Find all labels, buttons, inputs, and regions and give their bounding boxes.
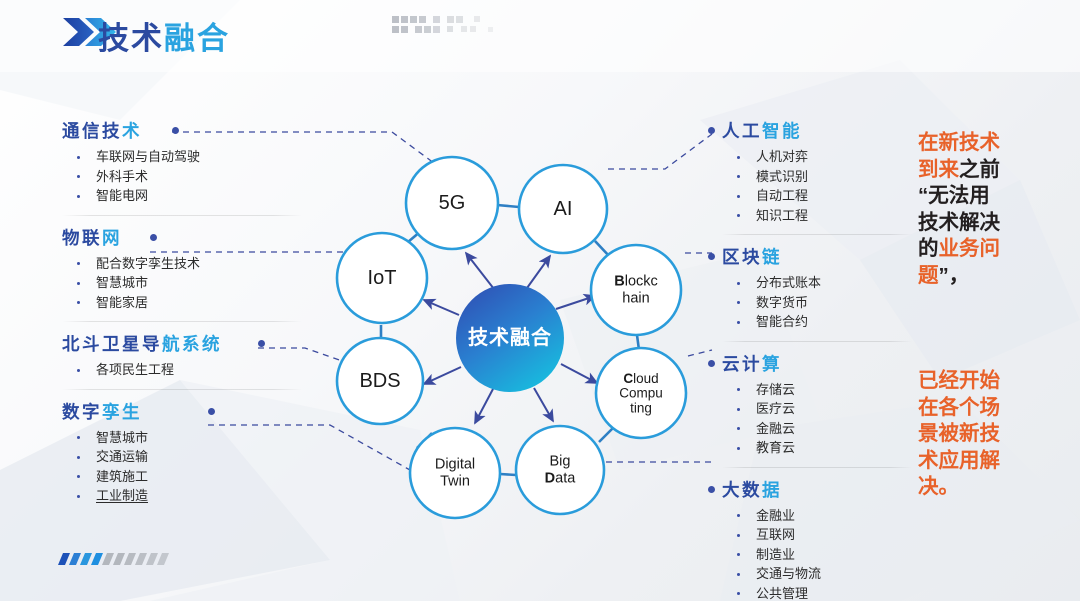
hub-label: 技术融合 bbox=[468, 325, 552, 349]
topic-item-list: 分布式账本 数字货币 智能合约 bbox=[722, 273, 912, 332]
callout-line: 到来之前 bbox=[918, 157, 1028, 184]
node-iot[interactable]: IoT bbox=[337, 233, 427, 323]
callout-bottom: 已经开始在各个场景被新技术应用解决。 bbox=[918, 368, 1028, 501]
heading-light: 智能 bbox=[762, 121, 802, 141]
heading-dark: 物联 bbox=[62, 228, 102, 248]
topic-group-iot: 物联网 配合数字孪生技术 智慧城市 智能家居 bbox=[62, 227, 302, 313]
list-item: 建筑施工 bbox=[62, 467, 302, 487]
node-label: Data bbox=[545, 471, 577, 487]
topic-item-list: 各项民生工程 bbox=[62, 360, 302, 380]
node-cloud[interactable]: CloudComputing bbox=[596, 348, 686, 438]
callout-line: 技术解决 bbox=[918, 210, 1028, 237]
topic-group-ai: 人工智能 人机对弈 模式识别 自动工程 知识工程 bbox=[722, 120, 912, 225]
callout-run: 在新技术 bbox=[918, 131, 1000, 154]
callout-run: 业务问 bbox=[939, 237, 1001, 260]
topic-item-list: 智慧城市 交通运输 建筑施工 工业制造 bbox=[62, 428, 302, 506]
node-label: AI bbox=[554, 198, 573, 220]
topic-item-list: 存储云 医疗云 金融云 教育云 bbox=[722, 380, 912, 458]
divider bbox=[722, 234, 912, 235]
node-bds[interactable]: BDS bbox=[337, 338, 423, 424]
list-item: 金融云 bbox=[722, 419, 912, 439]
list-item: 智能电网 bbox=[62, 186, 302, 206]
divider bbox=[62, 215, 302, 216]
node-digitaltwin[interactable]: DigitalTwin bbox=[410, 428, 500, 518]
callout-run: 之前 bbox=[959, 158, 1000, 181]
topic-item-list: 配合数字孪生技术 智慧城市 智能家居 bbox=[62, 254, 302, 313]
connector-dot bbox=[150, 234, 157, 241]
callout-line: 术应用解 bbox=[918, 448, 1028, 475]
heading-dark: 区块 bbox=[722, 247, 762, 267]
list-item: 人机对弈 bbox=[722, 147, 912, 167]
node-bigdata[interactable]: BigData bbox=[516, 426, 604, 514]
list-item: 各项民生工程 bbox=[62, 360, 302, 380]
topic-item-list: 金融业 互联网 制造业 交通与物流 公共管理 bbox=[722, 506, 912, 601]
list-item: 交通运输 bbox=[62, 447, 302, 467]
node-ai[interactable]: AI bbox=[519, 165, 607, 253]
callout-run: 决。 bbox=[918, 475, 959, 498]
callout-line: 在新技术 bbox=[918, 130, 1028, 157]
topic-heading: 云计算 bbox=[722, 353, 912, 375]
topic-heading: 数字孪生 bbox=[62, 401, 302, 423]
heading-light: 算 bbox=[762, 354, 782, 374]
list-item: 分布式账本 bbox=[722, 273, 912, 293]
topic-heading: 人工智能 bbox=[722, 120, 912, 142]
heading-light: 网 bbox=[102, 228, 122, 248]
right-topic-column: 人工智能 人机对弈 模式识别 自动工程 知识工程 区块链 分布式账本 数字货币 … bbox=[722, 120, 912, 601]
callout-line: 已经开始 bbox=[918, 368, 1028, 395]
callout-line: 在各个场 bbox=[918, 395, 1028, 422]
list-item: 外科手术 bbox=[62, 167, 302, 187]
topic-group-bigdata: 大数据 金融业 互联网 制造业 交通与物流 公共管理 bbox=[722, 479, 912, 601]
callout-line: 的业务问 bbox=[918, 236, 1028, 263]
list-item: 医疗云 bbox=[722, 399, 912, 419]
node-5g[interactable]: 5G bbox=[406, 157, 498, 249]
node-label: IoT bbox=[368, 267, 397, 289]
list-item: 金融业 bbox=[722, 506, 912, 526]
divider bbox=[722, 341, 912, 342]
node-label: hain bbox=[622, 291, 649, 307]
callout-run: 景被新技 bbox=[918, 422, 1000, 445]
callout-run: 已经开始 bbox=[918, 369, 1000, 392]
node-label: 5G bbox=[439, 192, 466, 214]
connector-dot bbox=[258, 340, 265, 347]
list-item: 交通与物流 bbox=[722, 564, 912, 584]
divider bbox=[62, 389, 302, 390]
heading-dark: 北斗卫星导 bbox=[62, 334, 162, 354]
divider bbox=[62, 321, 302, 322]
list-item: 数字货币 bbox=[722, 293, 912, 313]
list-item: 配合数字孪生技术 bbox=[62, 254, 302, 274]
heading-dark: 数字 bbox=[62, 402, 102, 422]
topic-group-beidou: 北斗卫星导航系统 各项民生工程 bbox=[62, 333, 302, 380]
list-item: 工业制造 bbox=[62, 486, 302, 506]
connector-dot bbox=[172, 127, 179, 134]
list-item: 智慧城市 bbox=[62, 428, 302, 448]
topic-heading: 北斗卫星导航系统 bbox=[62, 333, 302, 355]
callout-run: 到来 bbox=[918, 158, 959, 181]
topic-group-communication: 通信技术 车联网与自动驾驶 外科手术 智能电网 bbox=[62, 120, 302, 206]
list-item: 智能合约 bbox=[722, 312, 912, 332]
node-label: Cloud bbox=[623, 371, 658, 386]
heading-dark: 通信技 bbox=[62, 121, 122, 141]
callout-line: “无法用 bbox=[918, 183, 1028, 210]
node-label: BDS bbox=[359, 370, 400, 392]
topic-heading: 物联网 bbox=[62, 227, 302, 249]
connector-dot bbox=[208, 408, 215, 415]
node-label: Blockc bbox=[614, 274, 658, 290]
callout-run: “无法用 bbox=[918, 184, 990, 207]
topic-heading: 区块链 bbox=[722, 246, 912, 268]
heading-dark: 人工 bbox=[722, 121, 762, 141]
topic-group-blockchain: 区块链 分布式账本 数字货币 智能合约 bbox=[722, 246, 912, 332]
callout-run: 题 bbox=[918, 264, 939, 287]
heading-light: 孪生 bbox=[102, 402, 142, 422]
list-item: 自动工程 bbox=[722, 186, 912, 206]
callout-line: 景被新技 bbox=[918, 421, 1028, 448]
callout-line: 题”， bbox=[918, 263, 1028, 290]
diagram-hub[interactable]: 技术融合 bbox=[456, 284, 564, 392]
callout-run: 术应用解 bbox=[918, 449, 1000, 472]
list-item: 互联网 bbox=[722, 525, 912, 545]
topic-group-digital-twin: 数字孪生 智慧城市 交通运输 建筑施工 工业制造 bbox=[62, 401, 302, 506]
technology-convergence-diagram: 5GAIBlockchainCloudComputingBigDataDigit… bbox=[300, 110, 720, 550]
node-label: Twin bbox=[440, 474, 470, 490]
heading-light: 航系统 bbox=[162, 334, 222, 354]
heading-light: 链 bbox=[762, 247, 782, 267]
list-item: 智慧城市 bbox=[62, 273, 302, 293]
list-item: 车联网与自动驾驶 bbox=[62, 147, 302, 167]
list-item: 模式识别 bbox=[722, 167, 912, 187]
callout-top: 在新技术到来之前“无法用技术解决的业务问题”， bbox=[918, 130, 1028, 289]
callout-line: 决。 bbox=[918, 474, 1028, 501]
topic-group-cloud: 云计算 存储云 医疗云 金融云 教育云 bbox=[722, 353, 912, 458]
topic-item-list: 车联网与自动驾驶 外科手术 智能电网 bbox=[62, 147, 302, 206]
node-blockchain[interactable]: Blockchain bbox=[591, 245, 681, 335]
slide-canvas: 技术融合 bbox=[0, 0, 1080, 601]
topic-item-list: 人机对弈 模式识别 自动工程 知识工程 bbox=[722, 147, 912, 225]
divider bbox=[722, 467, 912, 468]
slanted-bars-decoration bbox=[55, 552, 195, 566]
node-label: Big bbox=[550, 454, 571, 470]
list-item: 制造业 bbox=[722, 545, 912, 565]
list-item: 知识工程 bbox=[722, 206, 912, 226]
list-item: 存储云 bbox=[722, 380, 912, 400]
heading-dark: 云计 bbox=[722, 354, 762, 374]
list-item: 教育云 bbox=[722, 438, 912, 458]
list-item: 公共管理 bbox=[722, 584, 912, 601]
node-label: Compu bbox=[619, 386, 663, 401]
topic-heading: 通信技术 bbox=[62, 120, 302, 142]
left-topic-column: 通信技术 车联网与自动驾驶 外科手术 智能电网 物联网 配合数字孪生技术 智慧城… bbox=[62, 120, 302, 506]
heading-light: 术 bbox=[122, 121, 142, 141]
heading-light: 据 bbox=[762, 480, 782, 500]
callout-run: 的 bbox=[918, 237, 939, 260]
callout-run: 技术解决 bbox=[918, 211, 1000, 234]
heading-dark: 大数 bbox=[722, 480, 762, 500]
node-label: ting bbox=[630, 401, 652, 416]
callout-run: 在各个场 bbox=[918, 396, 1000, 419]
topic-heading: 大数据 bbox=[722, 479, 912, 501]
list-item: 智能家居 bbox=[62, 293, 302, 313]
node-label: Digital bbox=[435, 457, 475, 473]
callout-run: ”， bbox=[939, 264, 970, 287]
